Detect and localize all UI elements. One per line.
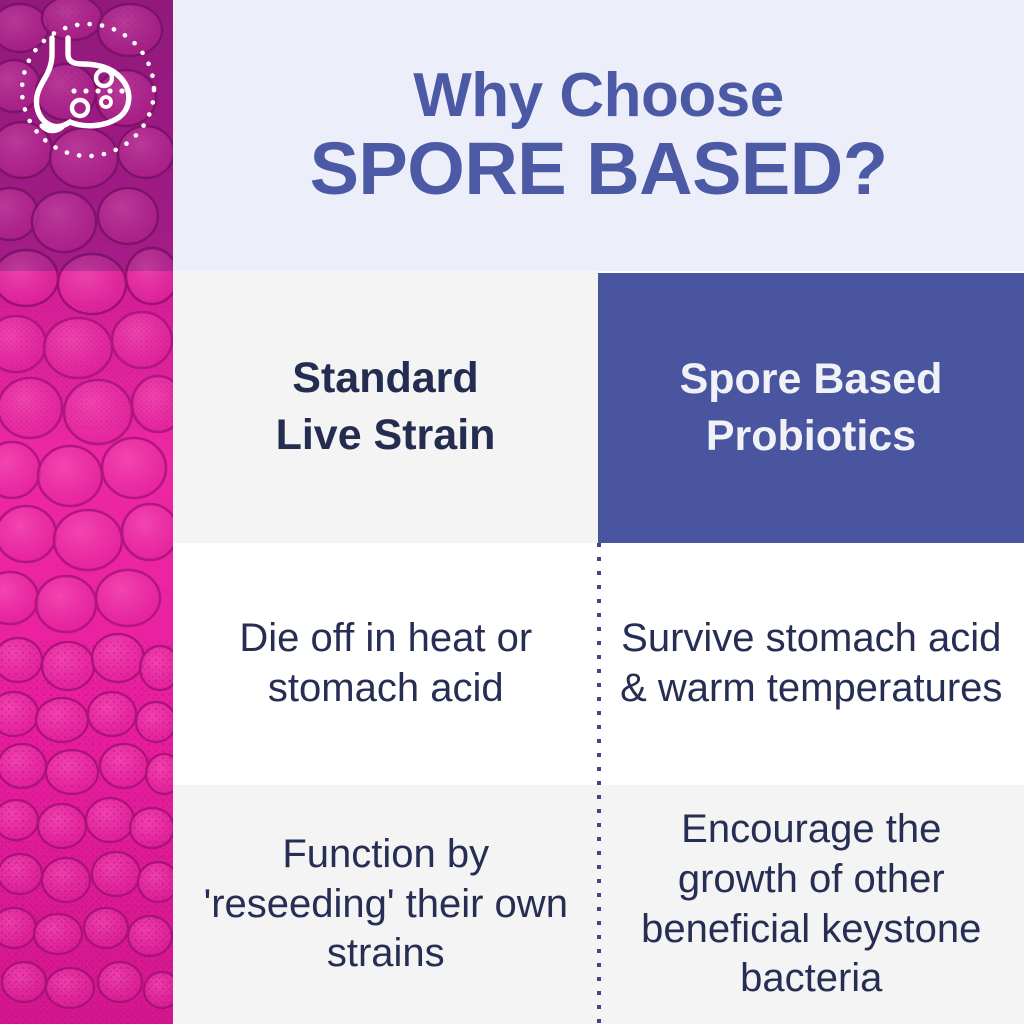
column-header-standard-line1: Standard (292, 354, 478, 402)
comparison-header-row: Standard Live Strain Spore Based Probiot… (173, 271, 1024, 543)
infographic-canvas: Why Choose SPORE BASED? Standard Live St… (0, 0, 1024, 1024)
table-cell-standard-text: Die off in heat or stomach acid (191, 614, 581, 713)
left-texture-panel (0, 0, 173, 1024)
column-header-spore: Spore Based Probiotics (598, 273, 1024, 543)
column-header-spore-label: Spore Based Probiotics (680, 351, 943, 465)
table-cell-spore-text: Survive stomach acid & warm temperatures (617, 614, 1007, 713)
table-cell-spore: Encourage the growth of other beneficial… (599, 785, 1024, 1024)
column-divider-dotted (597, 543, 601, 1024)
column-header-standard-label: Standard Live Strain (276, 350, 496, 464)
column-header-spore-line1: Spore Based (680, 355, 943, 403)
bacteria-circle-small (101, 97, 111, 107)
page-header: Why Choose SPORE BASED? (173, 0, 1024, 271)
table-cell-standard: Die off in heat or stomach acid (173, 543, 599, 785)
page-title-line-1: Why Choose (413, 64, 783, 127)
table-cell-spore-text: Encourage the growth of other beneficial… (617, 805, 1007, 1003)
column-header-spore-line2: Probiotics (706, 412, 916, 460)
column-header-standard: Standard Live Strain (173, 271, 598, 543)
page-title-line-2: SPORE BASED? (310, 131, 888, 206)
bacteria-circle-large (96, 70, 112, 86)
bacteria-dot-row (71, 88, 124, 93)
table-cell-standard: Function by 'reseeding' their own strain… (173, 785, 599, 1024)
table-cell-standard-text: Function by 'reseeding' their own strain… (191, 830, 581, 979)
column-header-standard-line2: Live Strain (276, 411, 496, 459)
comparison-table: Standard Live Strain Spore Based Probiot… (173, 271, 1024, 1024)
stomach-icon (12, 14, 164, 166)
bacteria-circle-medium (72, 100, 88, 116)
table-cell-spore: Survive stomach acid & warm temperatures (599, 543, 1024, 785)
